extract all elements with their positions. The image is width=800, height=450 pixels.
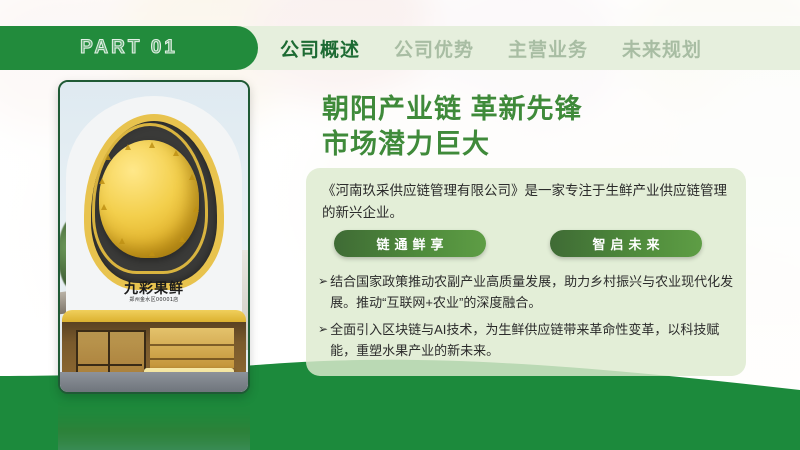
tab-future-plans[interactable]: 未来规划 — [622, 35, 702, 62]
title-line-2: 市场潜力巨大 — [322, 127, 752, 162]
durian-sculpture — [99, 140, 199, 258]
company-description: 《河南玖采供应链管理有限公司》是一家专注于生鲜产业供应链管理的新兴企业。 — [322, 180, 730, 224]
header-bar: PART 01 公司概述 公司优势 主营业务 未来规划 — [0, 26, 800, 70]
bullet-text: 结合国家政策推动农副产业高质量发展，助力乡村振兴与农业现代化发展。推动“互联网+… — [330, 272, 736, 313]
bullet-text: 全面引入区块链与AI技术，为生鲜供应链带来革命性变革，以科技赋能，重塑水果产业的… — [330, 320, 736, 361]
title-line-1: 朝阳产业链 革新先锋 — [322, 94, 583, 124]
page-title: 朝阳产业链 革新先锋 市场潜力巨大 — [322, 92, 752, 161]
part-label: PART 01 — [80, 37, 178, 59]
list-item: ➢ 全面引入区块链与AI技术，为生鲜供应链带来革命性变革，以科技赋能，重塑水果产… — [318, 320, 736, 361]
tab-main-business[interactable]: 主营业务 — [508, 35, 588, 62]
list-item: ➢ 结合国家政策推动农副产业高质量发展，助力乡村振兴与农业现代化发展。推动“互联… — [318, 272, 736, 313]
store-photo: 九彩果鲜 郑州金水区00001店 — [60, 82, 248, 392]
slide-root: PART 01 公司概述 公司优势 主营业务 未来规划 — [0, 0, 800, 450]
nav-items: 公司概述 公司优势 主营业务 未来规划 — [280, 26, 792, 70]
tab-company-advantages[interactable]: 公司优势 — [394, 35, 474, 62]
part-badge: PART 01 — [0, 26, 258, 70]
store-photo-card: 九彩果鲜 郑州金水区00001店 — [58, 80, 250, 394]
bullet-arrow-icon: ➢ — [318, 272, 328, 313]
tagline-pills: 链通鲜享 智启未来 — [334, 230, 734, 257]
pill-smart-future[interactable]: 智启未来 — [550, 230, 702, 257]
bullet-arrow-icon: ➢ — [318, 320, 328, 361]
pill-chain-fresh[interactable]: 链通鲜享 — [334, 230, 486, 257]
tab-company-overview[interactable]: 公司概述 — [280, 35, 360, 62]
bullet-list: ➢ 结合国家政策推动农副产业高质量发展，助力乡村振兴与农业现代化发展。推动“互联… — [318, 272, 736, 368]
store-name: 九彩果鲜 — [60, 278, 248, 298]
store-photo-reflection — [58, 394, 250, 450]
store-branch: 郑州金水区00001店 — [60, 296, 248, 303]
